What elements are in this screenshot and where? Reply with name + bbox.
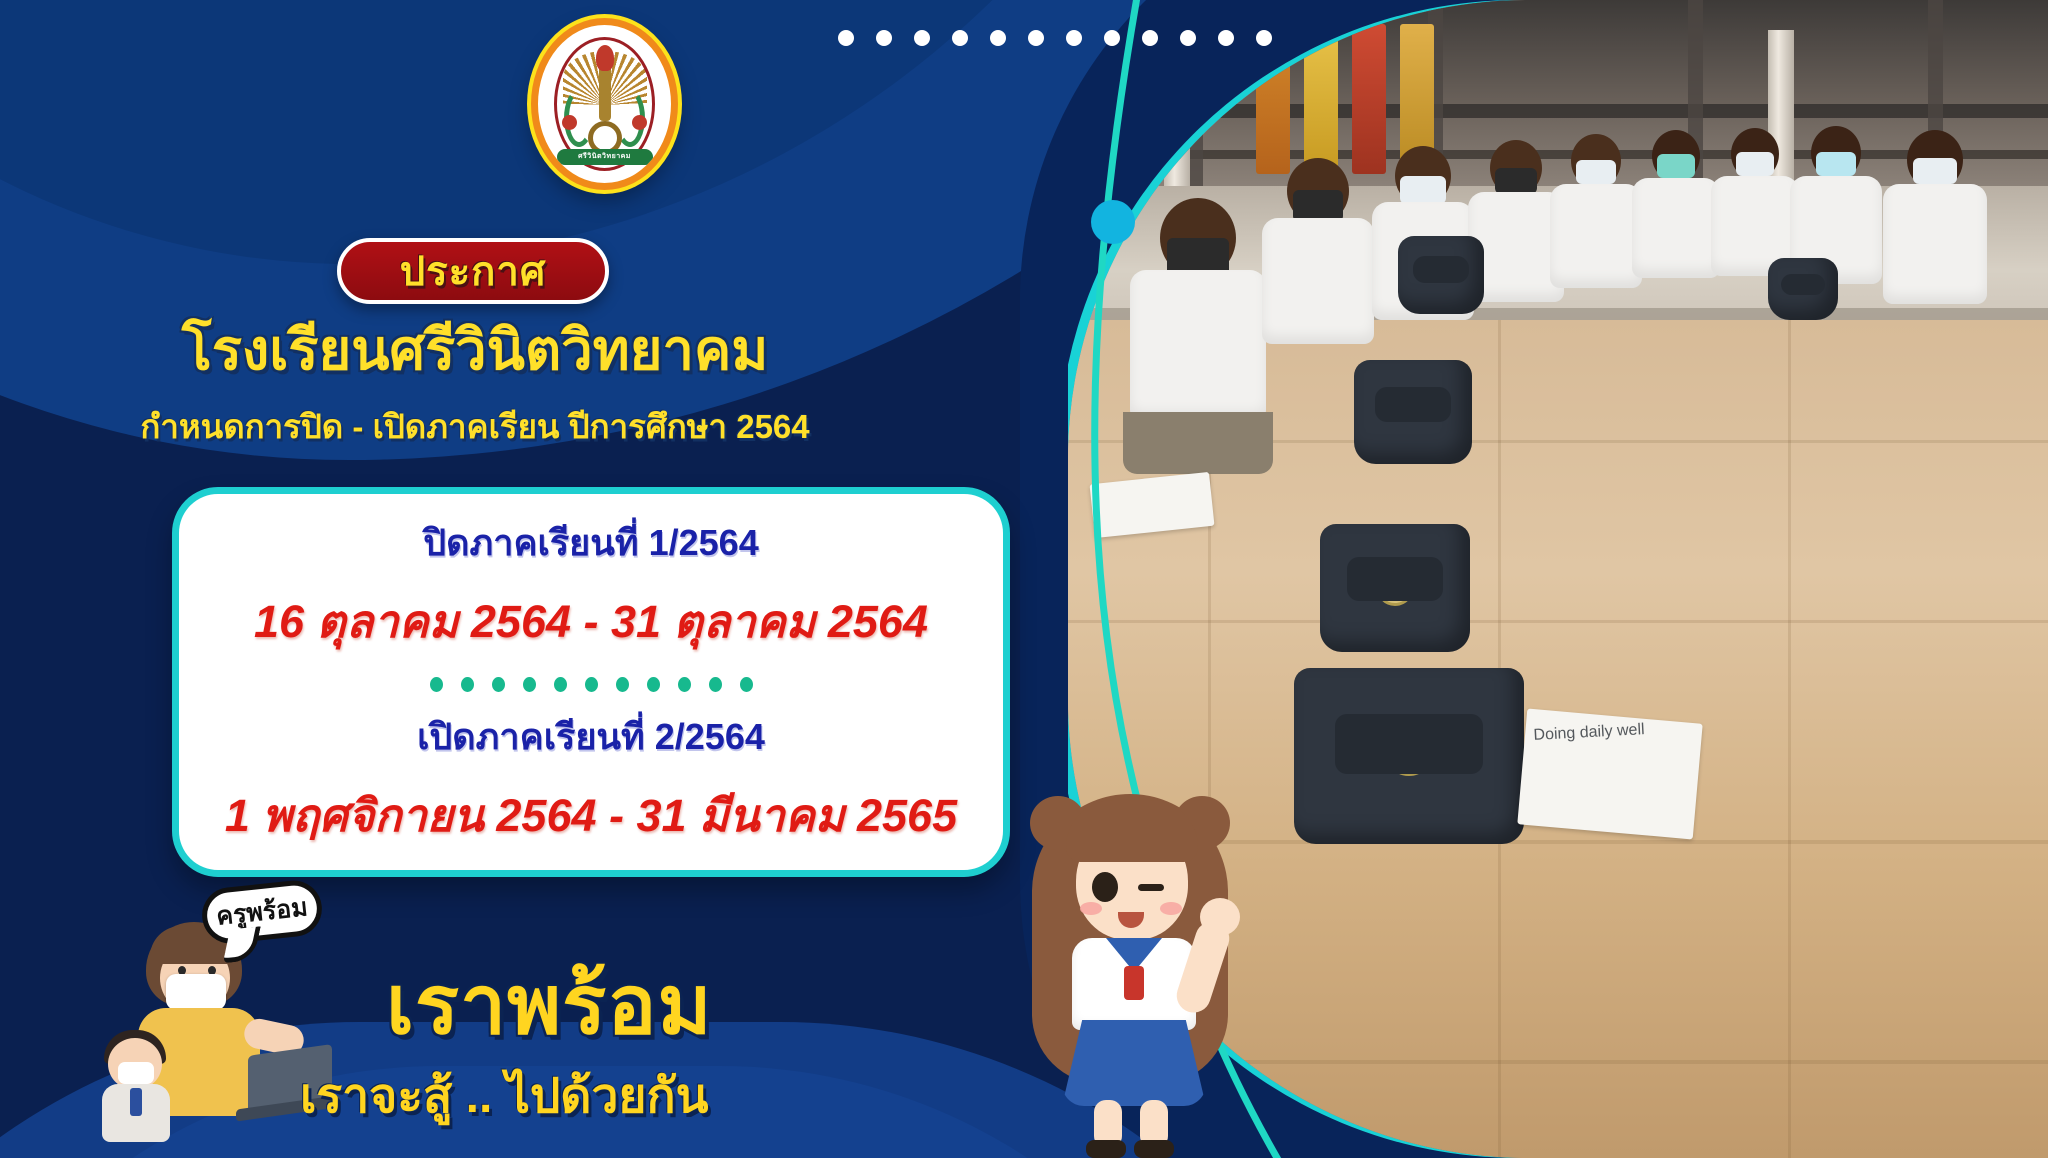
girl-necktie [1124,966,1144,1000]
girl-eye-right-wink [1138,884,1164,891]
top-dot [914,30,930,46]
girl-shoe-right [1134,1140,1174,1158]
top-dot [1028,30,1044,46]
school-name-heading: โรงเรียนศรีวินิตวิทยาคม [0,305,950,394]
girl-eye-left [1092,872,1118,902]
face-mask [1576,160,1616,184]
backpack [1320,524,1470,652]
photo-beam [1188,0,1203,190]
backpack [1294,668,1524,844]
term-close-dates: 16 ตุลาคม 2564 - 31 ตุลาคม 2564 [254,585,928,657]
backpack-school-emblem [1385,728,1433,776]
card-divider-dot [430,677,443,692]
top-dot [1256,30,1272,46]
term-open-dates: 1 พฤศจิกายน 2564 - 31 มีนาคม 2565 [225,779,957,851]
card-divider-dot [616,677,629,692]
floor-tile-line [1068,620,2048,623]
backpack [1398,236,1484,314]
poster-subtitle: กำหนดการปิด - เปิดภาคเรียน ปีการศึกษา 25… [0,400,950,453]
announcement-badge-label: ประกาศ [400,239,546,303]
floor-sign-text: Doing daily well [1533,721,1645,745]
school-crest-emblem: ศรีวินิตวิทยาคม [531,18,678,190]
term-open-label: เปิดภาคเรียนที่ 2/2564 [417,708,765,765]
student-uniform [1262,218,1374,344]
backpack [1768,258,1838,320]
card-divider-dot [709,677,722,692]
girl-skirt [1062,1020,1206,1106]
student-uniform [1883,184,1987,304]
child-necktie [130,1088,142,1116]
top-dot [1066,30,1082,46]
crest-ribbon-text: ศรีวินิตวิทยาคม [557,149,653,165]
card-dot-divider [430,677,753,692]
girl-fringe [1066,800,1198,862]
top-dot [876,30,892,46]
card-divider-dot [523,677,536,692]
card-divider-dot [492,677,505,692]
teacher-face-mask [166,974,226,1010]
slogan-sub: เราจะสู้ .. ไปด้วยกัน [300,1058,708,1134]
face-mask [1736,152,1774,176]
student-uniform [1632,178,1720,278]
face-mask [1816,152,1856,176]
card-divider-dot [461,677,474,692]
poster-canvas: Doing daily well ศรีวินิตวิทยาคม ประกาศ … [0,0,2048,1158]
top-dot-row [838,30,1272,46]
backpack [1354,360,1472,464]
crest-ribbon: ศรีวินิตวิทยาคม [557,149,653,165]
top-dot [1142,30,1158,46]
girl-cheek-right [1160,902,1182,915]
card-divider-dot [678,677,691,692]
girl-cheek-left [1080,902,1102,915]
speech-bubble-text: ครูพร้อม [214,887,309,936]
face-mask [1400,176,1446,204]
card-divider-dot [740,677,753,692]
term-schedule-card: ปิดภาคเรียนที่ 1/2564 16 ตุลาคม 2564 - 3… [172,487,1010,877]
card-divider-dot [585,677,598,692]
student-figure [1128,188,1268,518]
top-dot [1218,30,1234,46]
top-dot [1180,30,1196,46]
student-girl-cartoon [1010,770,1250,1158]
top-dot [952,30,968,46]
student-legs [1123,412,1273,474]
girl-shoe-left [1086,1140,1126,1158]
term-close-label: ปิดภาคเรียนที่ 1/2564 [423,514,758,571]
girl-hand [1200,898,1240,936]
announcement-badge: ประกาศ [337,238,609,304]
slogan-main: เราพร้อม [386,940,713,1070]
top-dot [990,30,1006,46]
child-face-mask [118,1062,154,1084]
backpack-school-emblem [1376,568,1414,606]
student-uniform [1130,270,1266,420]
floor-tile-line [1788,320,1791,1158]
top-dot [838,30,854,46]
face-mask [1495,168,1537,194]
card-divider-dot [554,677,567,692]
card-divider-dot [647,677,660,692]
floor-sign: Doing daily well [1517,709,1702,840]
top-dot [1104,30,1120,46]
student-figure [1880,124,1990,374]
face-mask [1913,158,1957,184]
face-mask [1657,154,1695,178]
